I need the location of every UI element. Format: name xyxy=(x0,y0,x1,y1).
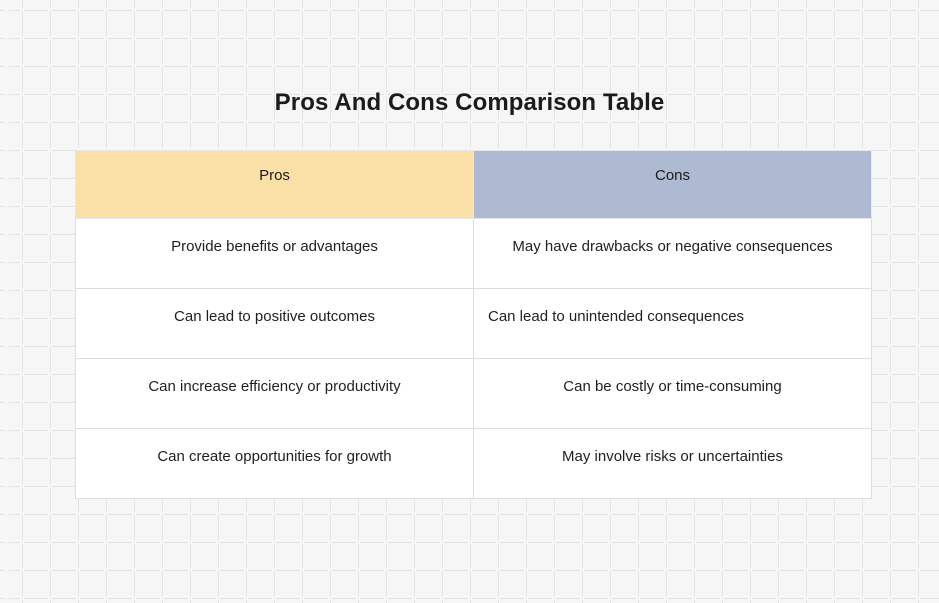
pros-and-cons-table: Pros Cons Provide benefits or advantages… xyxy=(75,150,872,499)
page-title: Pros And Cons Comparison Table xyxy=(0,89,939,117)
column-header-pros: Pros xyxy=(76,151,474,219)
cell-pros: Can lead to positive outcomes xyxy=(76,289,474,359)
cell-pros: Provide benefits or advantages xyxy=(76,219,474,289)
table-row: Can increase efficiency or productivity … xyxy=(76,359,872,429)
cell-cons: May involve risks or uncertainties xyxy=(474,429,872,499)
column-header-cons: Cons xyxy=(474,151,872,219)
cell-pros: Can create opportunities for growth xyxy=(76,429,474,499)
cell-cons: Can be costly or time-consuming xyxy=(474,359,872,429)
cell-cons: May have drawbacks or negative consequen… xyxy=(474,219,872,289)
cell-pros: Can increase efficiency or productivity xyxy=(76,359,474,429)
canvas: Pros And Cons Comparison Table Pros Cons… xyxy=(0,0,939,603)
table-body: Provide benefits or advantages May have … xyxy=(76,219,872,499)
table-row: Provide benefits or advantages May have … xyxy=(76,219,872,289)
table-row: Can lead to positive outcomes Can lead t… xyxy=(76,289,872,359)
cell-cons: Can lead to unintended consequences xyxy=(474,289,872,359)
table-header-row: Pros Cons xyxy=(76,151,872,219)
table-header: Pros Cons xyxy=(76,151,872,219)
table-row: Can create opportunities for growth May … xyxy=(76,429,872,499)
